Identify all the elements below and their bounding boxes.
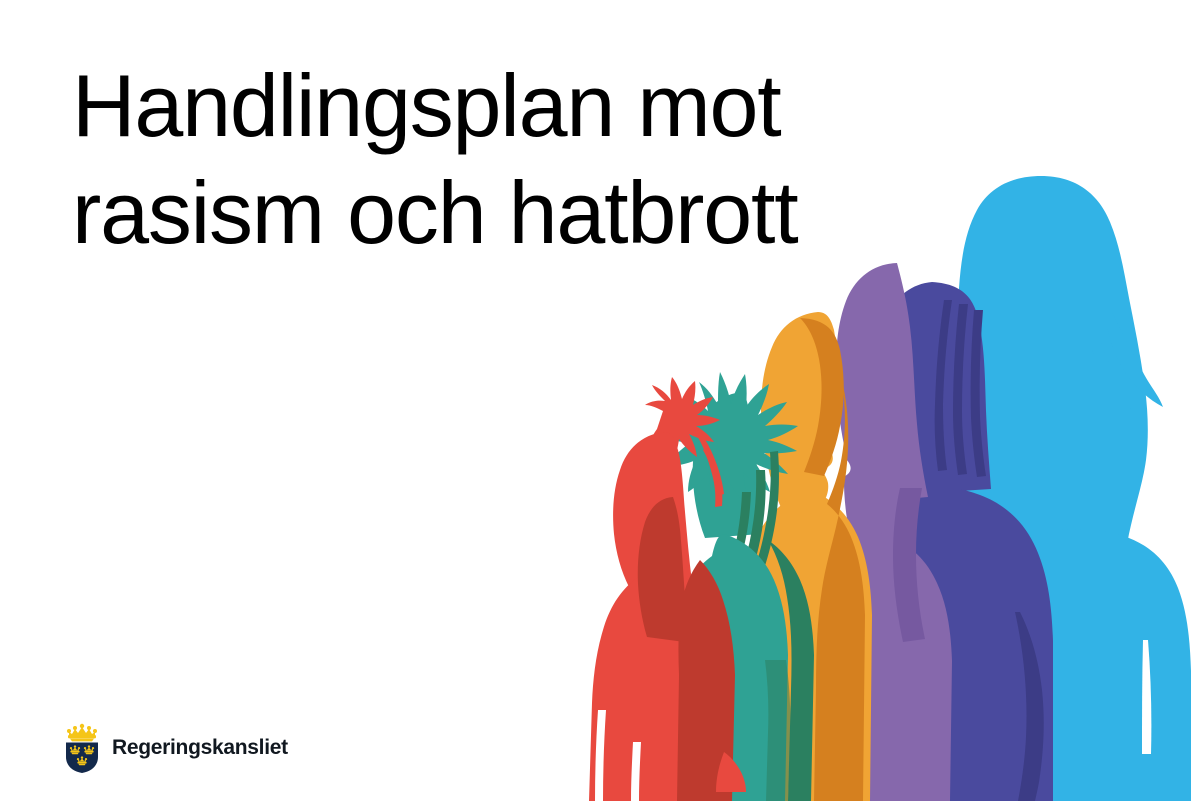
silhouette-artwork bbox=[0, 0, 1201, 801]
logo-wordmark: Regeringskansliet bbox=[112, 737, 288, 758]
cover-page: Handlingsplan mot rasism och hatbrott bbox=[0, 0, 1201, 801]
swedish-three-crowns-coat-of-arms-icon bbox=[62, 721, 102, 773]
regeringskansliet-logo: Regeringskansliet bbox=[62, 721, 288, 773]
